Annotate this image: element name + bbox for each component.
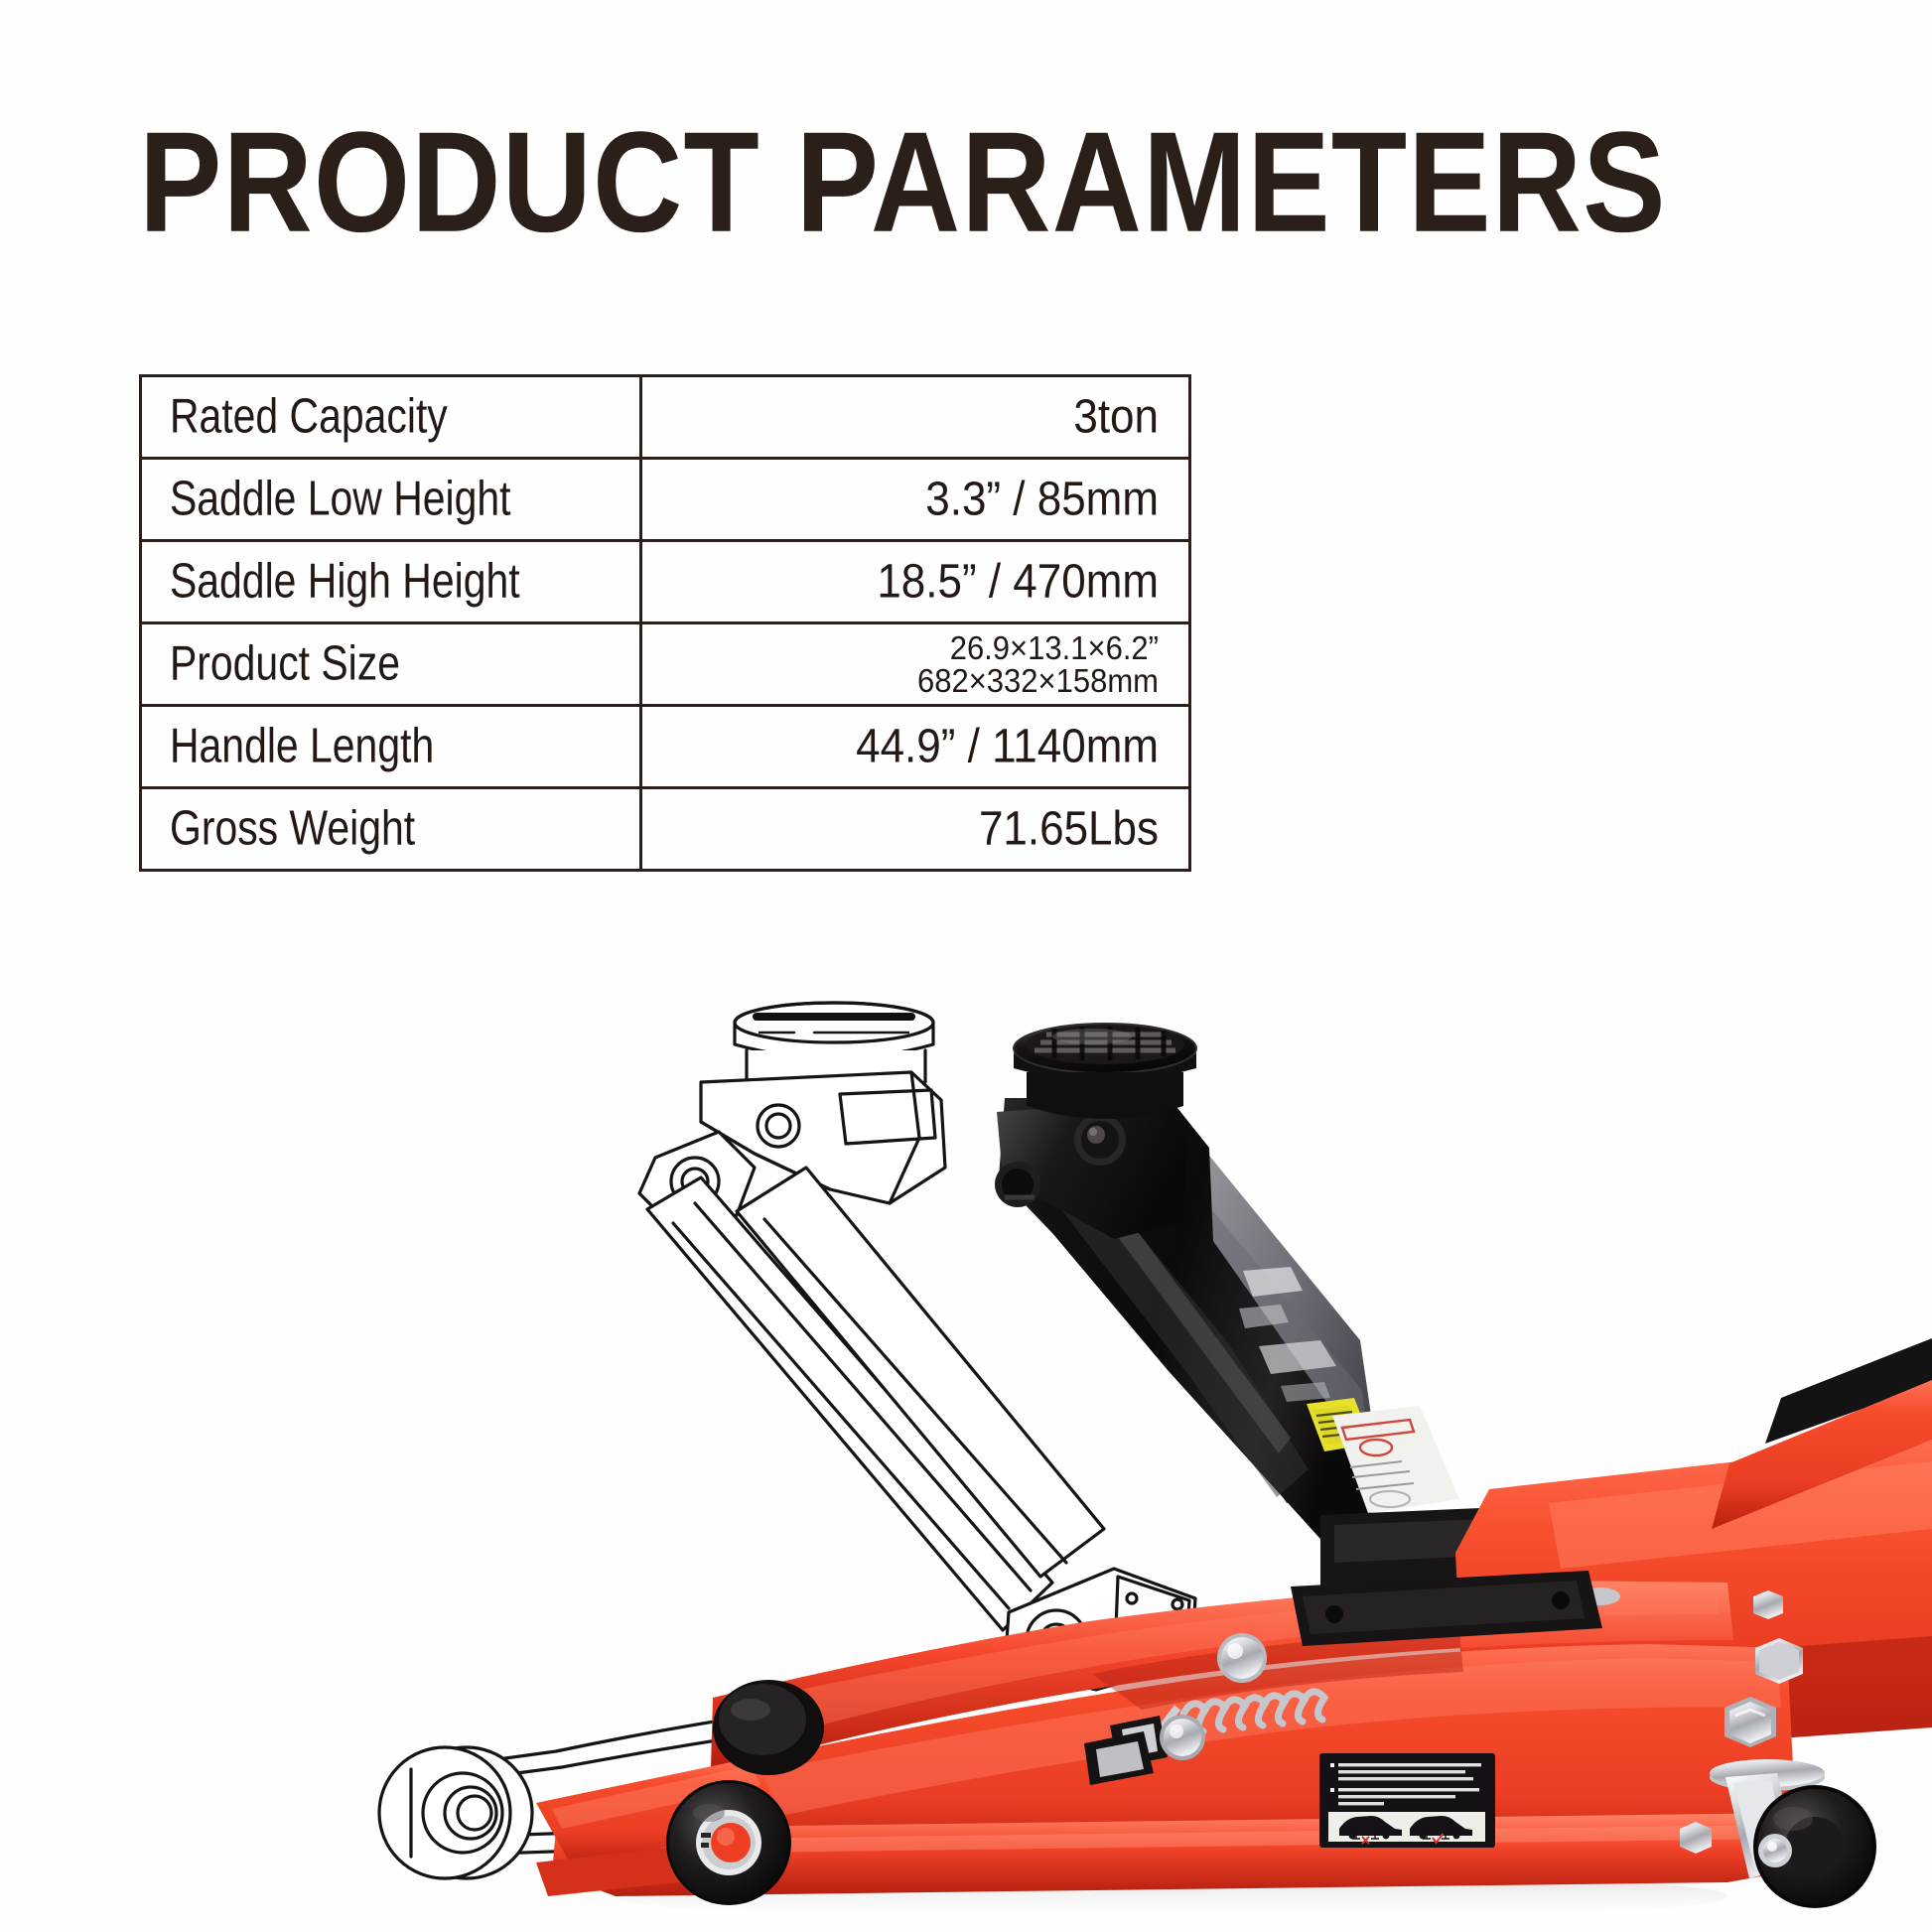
warning-decal xyxy=(1319,1753,1495,1848)
cover-bolt xyxy=(1552,1591,1570,1609)
table-row: Saddle High Height 18.5” / 470mm xyxy=(141,541,1190,623)
row-label-gross-weight: Gross Weight xyxy=(141,788,641,871)
row-value-handle-length: 44.9” / 1140mm xyxy=(641,706,1190,788)
table-row: Gross Weight 71.65Lbs xyxy=(141,788,1190,871)
row-value-rated-capacity: 3ton xyxy=(641,376,1190,459)
saddle-collar xyxy=(1027,1072,1183,1119)
front-wheel xyxy=(666,1780,791,1905)
row-label-rated-capacity: Rated Capacity xyxy=(141,376,641,459)
row-label-saddle-high-height: Saddle High Height xyxy=(141,541,641,623)
row-label-product-size: Product Size xyxy=(141,623,641,706)
hex-bolt-small xyxy=(1753,1590,1783,1619)
row-value-saddle-high-height: 18.5” / 470mm xyxy=(641,541,1190,623)
table-body: Rated Capacity 3ton Saddle Low Height 3.… xyxy=(141,376,1190,871)
page-title: PRODUCT PARAMETERS xyxy=(139,111,1667,254)
cover-bolt xyxy=(1325,1605,1343,1623)
table-row: Rated Capacity 3ton xyxy=(141,376,1190,459)
front-wheel-far xyxy=(713,1680,824,1775)
product-parameters-table: Rated Capacity 3ton Saddle Low Height 3.… xyxy=(139,374,1191,872)
row-value-saddle-low-height: 3.3” / 85mm xyxy=(641,459,1190,541)
row-label-saddle-low-height: Saddle Low Height xyxy=(141,459,641,541)
table-row: Product Size 26.9×13.1×6.2” 682×332×158m… xyxy=(141,623,1190,706)
table-row: Saddle Low Height 3.3” / 85mm xyxy=(141,459,1190,541)
row-label-handle-length: Handle Length xyxy=(141,706,641,788)
row-value-product-size: 26.9×13.1×6.2” 682×332×158mm xyxy=(641,623,1190,706)
product-photo xyxy=(0,973,1932,1932)
row-value-gross-weight: 71.65Lbs xyxy=(641,788,1190,871)
table-row: Handle Length 44.9” / 1140mm xyxy=(141,706,1190,788)
retaining-clip-icon xyxy=(995,1162,1040,1207)
saddle-pad xyxy=(1014,1024,1196,1119)
floor-jack-illustration xyxy=(0,973,1932,1932)
